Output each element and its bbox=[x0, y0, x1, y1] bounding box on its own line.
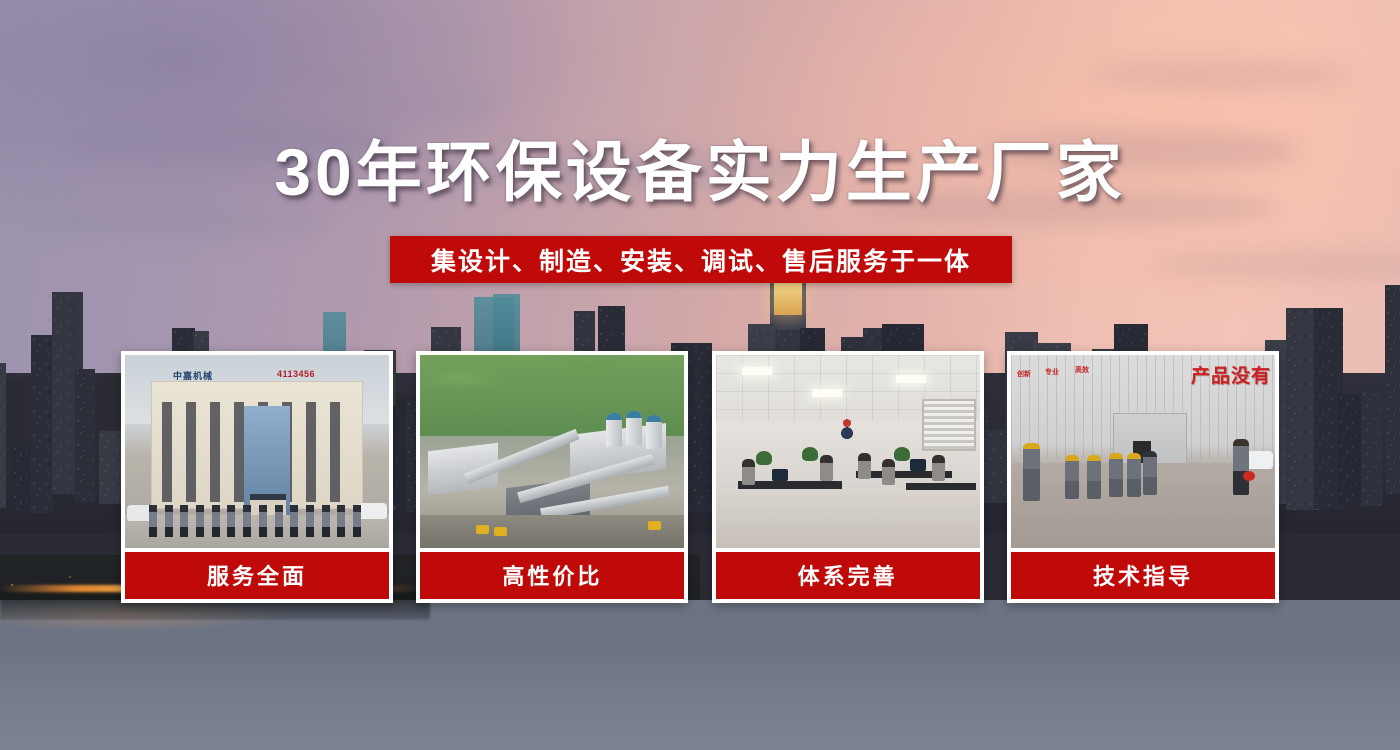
card-caption-text: 服务全面 bbox=[207, 559, 307, 591]
card-photo-plant-aerial bbox=[420, 355, 684, 548]
plant-road bbox=[420, 515, 684, 548]
skyline-building bbox=[1385, 285, 1400, 494]
worker bbox=[1087, 455, 1101, 499]
worker bbox=[1143, 451, 1157, 495]
laptop bbox=[772, 469, 788, 481]
feature-card-row: 中嘉机械 4113456 服务全面 bbox=[121, 351, 1279, 603]
card-caption-text: 体系完善 bbox=[798, 559, 898, 591]
worker bbox=[1023, 443, 1040, 501]
river-reflection bbox=[0, 600, 1400, 750]
feature-card[interactable]: 中嘉机械 4113456 服务全面 bbox=[121, 351, 393, 603]
monitor bbox=[910, 459, 926, 471]
feature-card[interactable]: 体系完善 bbox=[712, 351, 984, 603]
card-photo-worker-training: 产品没有 创新 专业 高效 bbox=[1011, 355, 1275, 548]
wall-emblem bbox=[832, 413, 862, 441]
skyline-building bbox=[31, 335, 53, 513]
feature-card[interactable]: 高性价比 bbox=[416, 351, 688, 603]
card-photo-office-building: 中嘉机械 4113456 bbox=[125, 355, 389, 548]
cloud bbox=[1090, 60, 1350, 90]
silo-cap bbox=[606, 413, 622, 420]
employee bbox=[882, 459, 895, 485]
red-helmet bbox=[1243, 471, 1255, 481]
silo-cap bbox=[646, 415, 662, 422]
parked-car bbox=[357, 503, 387, 519]
supervisor bbox=[1233, 439, 1249, 495]
desk bbox=[906, 483, 976, 490]
cloud bbox=[30, 210, 330, 240]
feature-card[interactable]: 产品没有 创新 专业 高效 技术指导 bbox=[1007, 351, 1279, 603]
employee bbox=[858, 453, 871, 479]
potted-plant bbox=[802, 447, 818, 461]
subtitle-text: 集设计、制造、安装、调试、售后服务于一体 bbox=[431, 242, 971, 278]
factory-slogan: 高效 bbox=[1075, 367, 1089, 375]
subtitle-banner: 集设计、制造、安装、调试、售后服务于一体 bbox=[390, 236, 1012, 283]
tower-light bbox=[774, 281, 802, 315]
headquarters-building bbox=[151, 381, 363, 509]
ceiling-light bbox=[812, 389, 842, 397]
card-caption-bar: 体系完善 bbox=[716, 552, 980, 599]
excavator bbox=[648, 521, 661, 530]
silo-cap bbox=[626, 411, 642, 418]
office-floor bbox=[716, 490, 980, 548]
card-caption-bar: 技术指导 bbox=[1011, 552, 1275, 599]
ceiling-light bbox=[742, 367, 772, 375]
factory-slogan: 创新 bbox=[1017, 371, 1031, 379]
worker bbox=[1127, 453, 1141, 497]
factory-slogan: 专业 bbox=[1045, 369, 1059, 377]
employee bbox=[932, 455, 945, 481]
cloud bbox=[240, 88, 500, 122]
building-phone-number: 4113456 bbox=[277, 369, 315, 379]
skyline-building bbox=[0, 363, 6, 508]
worker bbox=[1065, 455, 1079, 499]
skyline-building bbox=[1361, 390, 1383, 506]
card-caption-text: 高性价比 bbox=[502, 559, 602, 591]
card-photo-office-interior bbox=[716, 355, 980, 548]
excavator bbox=[494, 527, 507, 536]
promo-banner: 30年环保设备实力生产厂家 集设计、制造、安装、调试、售后服务于一体 中嘉机械 … bbox=[0, 0, 1400, 750]
page-title: 30年环保设备实力生产厂家 bbox=[0, 134, 1400, 210]
factory-sign-text: 产品没有 bbox=[1191, 361, 1271, 388]
potted-plant bbox=[894, 447, 910, 461]
staff-lineup bbox=[149, 505, 361, 539]
farmland bbox=[420, 355, 684, 436]
building-sign-text: 中嘉机械 bbox=[173, 369, 213, 382]
employee bbox=[742, 459, 755, 485]
skyline-building bbox=[75, 369, 95, 502]
card-caption-text: 技术指导 bbox=[1093, 559, 1193, 591]
employee bbox=[820, 455, 833, 481]
worker bbox=[1109, 453, 1123, 497]
skyline-building bbox=[99, 431, 123, 504]
potted-plant bbox=[756, 451, 772, 465]
ceiling-light bbox=[896, 375, 926, 383]
card-caption-bar: 高性价比 bbox=[420, 552, 684, 599]
window-blinds bbox=[922, 399, 976, 451]
card-caption-bar: 服务全面 bbox=[125, 552, 389, 599]
excavator bbox=[476, 525, 489, 534]
